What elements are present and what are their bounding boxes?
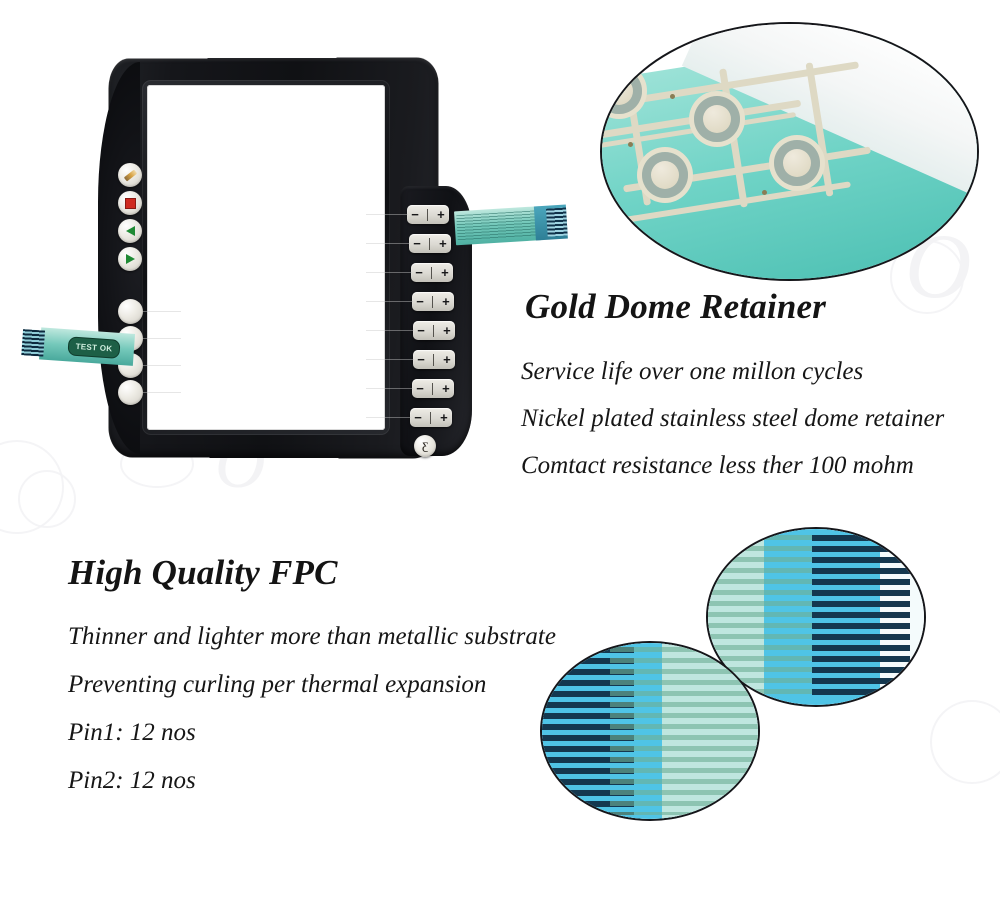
collage-canvas: O O O − + xyxy=(0,0,1000,901)
key-lead-line xyxy=(366,417,411,418)
triangle-right-icon xyxy=(126,254,135,264)
minus-icon: − xyxy=(415,266,423,279)
flex-traces xyxy=(456,210,539,241)
key-lead-line xyxy=(366,214,408,215)
gold-dome-bullet: Comtact resistance less ther 100 mohm xyxy=(521,452,914,480)
connector-fingers xyxy=(21,329,45,356)
stop-square-icon xyxy=(125,198,136,209)
rocker-divider xyxy=(431,267,432,279)
key-lead-line xyxy=(366,359,414,360)
gold-dome-bullet: Service life over one millon cycles xyxy=(521,358,863,386)
rocker-divider xyxy=(429,238,430,250)
rocker-divider xyxy=(433,325,434,337)
fpc-traces-light xyxy=(610,647,758,815)
circuit-via xyxy=(628,142,633,147)
key-lead-line xyxy=(366,272,412,273)
connector-fingers xyxy=(546,208,568,237)
circuit-via xyxy=(670,94,675,99)
soft-key-4[interactable] xyxy=(118,380,143,405)
minus-icon: − xyxy=(413,237,421,250)
rocker-key[interactable]: − + xyxy=(407,205,449,224)
right-flex-tail xyxy=(454,205,566,248)
key-lead-line xyxy=(143,311,181,312)
triangle-left-icon xyxy=(126,226,135,236)
plus-icon: + xyxy=(442,382,450,395)
key-lead-line xyxy=(143,338,181,339)
prev-key[interactable] xyxy=(118,219,142,243)
hook-icon: ʒ xyxy=(422,439,428,453)
rocker-key[interactable]: − + xyxy=(413,321,455,340)
key-lead-line xyxy=(143,365,181,366)
circuit-via xyxy=(762,190,767,195)
key-lead-line xyxy=(366,243,410,244)
watermark-blob xyxy=(930,700,1000,784)
minus-icon: − xyxy=(414,411,422,424)
rocker-divider xyxy=(427,209,428,221)
minus-icon: − xyxy=(411,208,419,221)
rocker-divider xyxy=(432,383,433,395)
rocker-divider xyxy=(433,354,434,366)
rocker-key[interactable]: − + xyxy=(409,234,451,253)
soft-key-1[interactable] xyxy=(118,299,143,324)
watermark-blob xyxy=(18,470,76,528)
key-lead-line xyxy=(143,392,181,393)
dome-contact-pad xyxy=(642,152,688,198)
gold-dome-heading: Gold Dome Retainer xyxy=(525,287,826,327)
minus-icon: − xyxy=(416,295,424,308)
next-key[interactable] xyxy=(118,247,142,271)
plus-icon: + xyxy=(439,237,447,250)
fpc-heading: High Quality FPC xyxy=(68,553,338,593)
rocker-key[interactable]: − + xyxy=(412,379,454,398)
enter-hook-key[interactable]: ʒ xyxy=(414,435,436,457)
dome-contact-pad xyxy=(774,140,820,186)
plus-icon: + xyxy=(443,324,451,337)
key-lead-line xyxy=(366,330,414,331)
stop-key[interactable] xyxy=(118,191,142,215)
minus-icon: − xyxy=(417,324,425,337)
rocker-divider xyxy=(432,296,433,308)
minus-icon: − xyxy=(416,382,424,395)
rocker-key[interactable]: − + xyxy=(410,408,452,427)
display-window xyxy=(147,85,385,430)
test-ok-badge: TEST OK xyxy=(67,336,120,359)
fpc-bullet: Pin2: 12 nos xyxy=(68,767,196,795)
dome-contact-pad xyxy=(694,96,740,142)
fpc-bullet: Preventing curling per thermal expansion xyxy=(68,671,486,699)
plus-icon: + xyxy=(442,295,450,308)
pencil-icon xyxy=(123,169,136,181)
fpc-fingers-closeup-bottom xyxy=(540,641,760,821)
plus-icon: + xyxy=(441,266,449,279)
pencil-key[interactable] xyxy=(118,163,142,187)
rocker-key[interactable]: − + xyxy=(411,263,453,282)
left-flex-tail: TEST OK xyxy=(21,326,135,368)
plus-icon: + xyxy=(440,411,448,424)
rocker-key[interactable]: − + xyxy=(413,350,455,369)
plus-icon: + xyxy=(443,353,451,366)
key-lead-line xyxy=(366,301,413,302)
fpc-conductor-fingers xyxy=(812,535,910,699)
key-lead-line xyxy=(366,388,413,389)
plus-icon: + xyxy=(437,208,445,221)
fpc-bullet: Thinner and lighter more than metallic s… xyxy=(68,623,556,651)
rocker-divider xyxy=(430,412,431,424)
gold-dome-bullet: Nickel plated stainless steel dome retai… xyxy=(521,405,944,433)
gold-dome-retainer-closeup xyxy=(600,22,979,281)
minus-icon: − xyxy=(417,353,425,366)
fpc-bullet: Pin1: 12 nos xyxy=(68,719,196,747)
membrane-keypad-panel: − + − + − + − + − + − xyxy=(100,58,460,458)
rocker-key[interactable]: − + xyxy=(412,292,454,311)
